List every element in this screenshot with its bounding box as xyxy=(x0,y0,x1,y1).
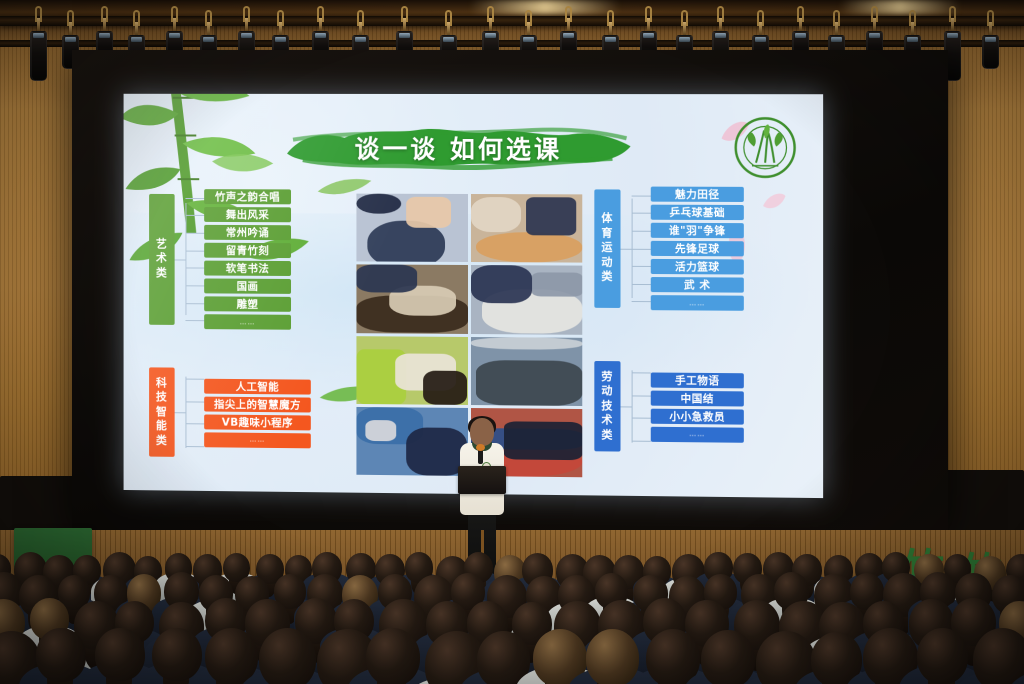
category-group-labor: 劳动技术类手工物语中国结小小急救员…… xyxy=(594,361,744,453)
stage-spotlight-icon xyxy=(982,22,999,35)
category-label-char: 运 xyxy=(601,241,613,256)
stage-spotlight-icon xyxy=(560,18,577,31)
photo-shape xyxy=(476,232,582,263)
photo-shape xyxy=(356,194,400,215)
photo-shape xyxy=(526,198,576,236)
category-label-char: 术 xyxy=(601,413,613,428)
photo-shape xyxy=(356,265,417,293)
category-label-char: 类 xyxy=(601,428,613,443)
course-item[interactable]: …… xyxy=(651,426,744,442)
photo-craft-reading xyxy=(356,336,467,405)
stage-spotlight-icon xyxy=(828,22,845,35)
photo-calligraphy-student xyxy=(356,194,467,263)
photo-clay-sculpture-class xyxy=(470,194,582,263)
course-item[interactable]: 雕塑 xyxy=(204,296,291,311)
student-audience xyxy=(0,556,1024,684)
audience-head xyxy=(701,630,755,684)
course-item[interactable]: …… xyxy=(204,314,291,330)
audience-head xyxy=(366,628,420,684)
category-connector-lines xyxy=(175,368,205,458)
category-label-char: 体 xyxy=(601,212,613,227)
connector-branch xyxy=(632,301,651,302)
photo-ink-painting xyxy=(470,265,582,334)
audience-head xyxy=(586,629,640,684)
course-item[interactable]: 常州吟诵 xyxy=(204,225,291,240)
course-item[interactable]: …… xyxy=(651,295,744,311)
category-label-tech[interactable]: 科技智能类 xyxy=(149,367,175,456)
stage-spotlight-icon xyxy=(352,22,369,35)
photo-shape xyxy=(532,272,582,296)
ceiling-light-glow xyxy=(840,0,960,14)
slide-title: 谈一谈 如何选课 xyxy=(283,125,635,172)
presenter-head xyxy=(470,418,494,446)
petal-decoration-icon xyxy=(762,191,786,211)
connector-branch xyxy=(185,285,204,286)
connector-branch xyxy=(632,284,651,285)
audience-head xyxy=(205,628,258,684)
stage-spotlight-icon xyxy=(752,22,769,35)
course-item[interactable]: VB趣味小程序 xyxy=(204,414,311,430)
category-label-art[interactable]: 艺术类 xyxy=(149,193,175,324)
stage-spotlight-icon xyxy=(312,18,329,31)
photo-robotics-lab xyxy=(356,407,467,476)
stage-spotlight-icon xyxy=(904,22,921,35)
course-item[interactable]: 武 术 xyxy=(651,277,744,293)
connector-branch xyxy=(185,401,204,402)
category-label-labor[interactable]: 劳动技术类 xyxy=(594,361,620,452)
stage-spotlight-icon xyxy=(944,18,961,31)
audience-head xyxy=(646,629,700,684)
connector-branch xyxy=(632,248,651,249)
category-label-char: 技 xyxy=(601,399,613,414)
photo-shape xyxy=(423,370,468,404)
course-item[interactable]: 软笔书法 xyxy=(204,261,291,276)
audience-head xyxy=(36,628,85,681)
connector-branch xyxy=(185,423,204,424)
course-item[interactable]: 中国结 xyxy=(651,390,744,406)
stage-spotlight-icon xyxy=(712,18,729,31)
stage-spotlight-icon xyxy=(200,22,217,35)
stage-spotlight-icon xyxy=(96,18,113,31)
category-label-char: 育 xyxy=(601,226,613,241)
connector-branch xyxy=(632,418,651,419)
connector-branch xyxy=(185,250,204,251)
category-connector-lines xyxy=(175,189,205,329)
connector-branch xyxy=(185,268,204,269)
course-item[interactable]: 小小急救员 xyxy=(651,408,744,424)
wall-panel xyxy=(946,470,1024,532)
course-item[interactable]: 留青竹刻 xyxy=(204,243,291,258)
audience-head xyxy=(152,628,202,682)
course-item[interactable]: 魅力田径 xyxy=(651,187,744,202)
presenter-folder xyxy=(458,466,506,494)
stage-spotlight-icon xyxy=(396,18,413,31)
stage-spotlight-icon xyxy=(640,18,657,31)
photo-shape xyxy=(470,265,531,303)
stage-spotlight-icon xyxy=(520,22,537,35)
category-label-char: 艺 xyxy=(156,237,168,251)
course-item[interactable]: 舞出风采 xyxy=(204,207,291,222)
connector-branch xyxy=(632,373,651,374)
category-label-char: 劳 xyxy=(601,370,613,385)
connector-branch xyxy=(185,233,204,234)
course-list-tech: 人工智能指尖上的智慧魔方VB趣味小程序…… xyxy=(204,378,311,448)
course-item[interactable]: 乒乓球基础 xyxy=(651,205,744,220)
photo-shape xyxy=(504,422,582,460)
stage-spotlight-icon xyxy=(602,22,619,35)
category-label-char: 类 xyxy=(601,270,613,285)
connector-branch xyxy=(632,266,651,267)
category-label-char: 科 xyxy=(156,376,168,390)
course-list-sports: 魅力田径乒乓球基础谁"羽"争锋先锋足球活力篮球武 术…… xyxy=(651,187,744,311)
course-item[interactable]: 国画 xyxy=(204,278,291,293)
course-item[interactable]: …… xyxy=(204,432,311,448)
auditorium-scene: 谈一谈 如何选课 艺术类竹声之韵合唱舞出风采常州吟诵留青竹刻软笔书法国画雕塑……… xyxy=(0,0,1024,684)
category-label-char: 动 xyxy=(601,384,613,399)
course-item[interactable]: 竹声之韵合唱 xyxy=(204,189,291,204)
category-connector-lines xyxy=(621,361,651,452)
stage-spotlight-icon xyxy=(866,18,883,31)
course-item[interactable]: 先锋足球 xyxy=(651,241,744,257)
course-list-labor: 手工物语中国结小小急救员…… xyxy=(651,372,744,442)
stage-spotlight-icon xyxy=(128,22,145,35)
category-connector-lines xyxy=(621,186,651,310)
stage-spotlight-icon xyxy=(792,18,809,31)
course-item[interactable]: 活力篮球 xyxy=(651,259,744,275)
course-list-art: 竹声之韵合唱舞出风采常州吟诵留青竹刻软笔书法国画雕塑…… xyxy=(204,189,291,330)
connector-branch xyxy=(632,195,651,196)
stage-spotlight-icon xyxy=(272,22,289,35)
audience-head xyxy=(95,628,145,682)
stage-spotlight-icon xyxy=(30,18,47,31)
connector-branch xyxy=(185,215,204,216)
photo-pe-class-gym xyxy=(470,337,582,406)
connector-branch xyxy=(185,379,204,380)
stage-spotlight-icon xyxy=(440,22,457,35)
photo-shape xyxy=(470,197,520,231)
course-item[interactable]: 人工智能 xyxy=(204,378,311,394)
stage-spotlight-icon xyxy=(238,18,255,31)
photo-shape xyxy=(365,420,396,441)
course-item[interactable]: 指尖上的智慧魔方 xyxy=(204,396,311,412)
stage-spotlight-icon xyxy=(676,22,693,35)
category-label-char: 技 xyxy=(156,390,168,404)
connector-branch xyxy=(185,198,204,199)
category-group-art: 艺术类竹声之韵合唱舞出风采常州吟诵留青竹刻软笔书法国画雕塑…… xyxy=(149,189,291,330)
stage-spotlight-icon xyxy=(62,22,79,35)
photo-shape xyxy=(470,337,582,350)
category-label-sports[interactable]: 体育运动类 xyxy=(594,189,620,308)
stage-spotlight-icon xyxy=(166,18,183,31)
connector-branch xyxy=(185,303,204,304)
school-bamboo-logo-icon xyxy=(734,116,797,179)
connector-branch xyxy=(185,446,204,447)
category-label-char: 动 xyxy=(601,255,613,270)
category-label-char: 类 xyxy=(156,266,168,280)
audience-head xyxy=(917,628,969,684)
stage-spotlight-icon xyxy=(482,18,499,31)
category-label-char: 术 xyxy=(156,252,168,266)
photo-shape xyxy=(476,360,582,405)
photo-shape xyxy=(406,197,450,228)
photo-bamboo-carving xyxy=(356,265,467,334)
connector-branch xyxy=(632,395,651,396)
connector-branch xyxy=(632,213,651,214)
course-item[interactable]: 谁"羽"争锋 xyxy=(651,223,744,238)
course-item[interactable]: 手工物语 xyxy=(651,372,744,388)
category-group-sports: 体育运动类魅力田径乒乓球基础谁"羽"争锋先锋足球活力篮球武 术…… xyxy=(594,186,744,310)
connector-branch xyxy=(632,440,651,441)
connector-branch xyxy=(632,231,651,232)
connector-branch xyxy=(185,320,204,321)
category-label-char: 能 xyxy=(156,419,168,434)
microphone-head-icon xyxy=(476,444,485,451)
category-label-char: 类 xyxy=(156,434,168,449)
category-group-tech: 科技智能类人工智能指尖上的智慧魔方VB趣味小程序…… xyxy=(149,367,311,458)
category-label-char: 智 xyxy=(156,405,168,420)
